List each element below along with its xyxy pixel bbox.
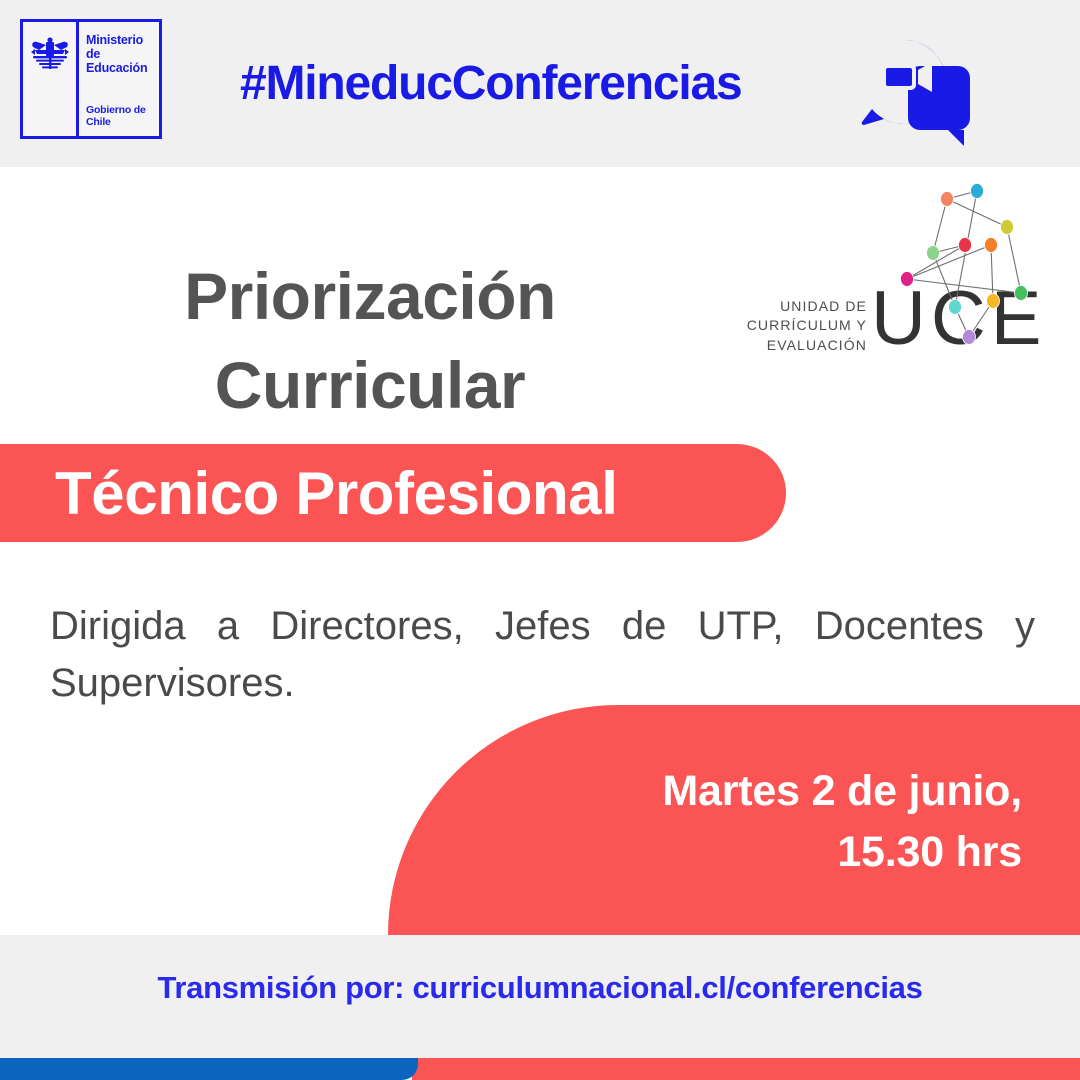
- category-badge: Técnico Profesional: [0, 444, 786, 542]
- uce-line-1: UNIDAD DE: [739, 297, 867, 316]
- title-line-2: Curricular: [215, 348, 525, 422]
- video-chat-bubble-icon: [858, 36, 978, 148]
- event-datetime: Martes 2 de junio, 15.30 hrs: [462, 761, 1022, 883]
- category-label: Técnico Profesional: [55, 459, 618, 528]
- uce-description: UNIDAD DE CURRÍCULUM Y EVALUACIÓN: [739, 297, 867, 355]
- broadcast-link[interactable]: Transmisión por: curriculumnacional.cl/c…: [0, 970, 1080, 1006]
- ministry-logo: Ministerio deEducación Gobierno de Chile: [20, 19, 162, 139]
- event-hashtag: #MineducConferencias: [240, 56, 741, 111]
- network-nodes-icon: [891, 183, 1041, 363]
- government-label: Gobierno de Chile: [86, 104, 159, 128]
- event-time: 15.30 hrs: [837, 828, 1022, 876]
- bottom-bar-blue: [0, 1058, 418, 1080]
- ministry-name: Ministerio deEducación: [86, 33, 159, 75]
- uce-logo: UNIDAD DE CURRÍCULUM Y EVALUACIÓN UCE: [731, 177, 1043, 385]
- audience-text: Dirigida a Directores, Jefes de UTP, Doc…: [50, 598, 1035, 712]
- uce-line-3: EVALUACIÓN: [739, 336, 867, 355]
- bottom-bar-red: [412, 1058, 1080, 1080]
- coat-of-arms-panel: [23, 22, 79, 136]
- date-panel: Martes 2 de junio, 15.30 hrs: [388, 705, 1080, 935]
- conference-poster: Ministerio deEducación Gobierno de Chile…: [0, 0, 1080, 1080]
- event-date: Martes 2 de junio,: [662, 767, 1022, 815]
- title-line-1: Priorización: [184, 259, 556, 333]
- page-title: Priorización Curricular: [60, 252, 680, 430]
- uce-line-2: CURRÍCULUM Y: [739, 316, 867, 335]
- ministry-wordmark: Ministerio deEducación Gobierno de Chile: [79, 22, 159, 136]
- chile-coat-of-arms-icon: [29, 36, 71, 72]
